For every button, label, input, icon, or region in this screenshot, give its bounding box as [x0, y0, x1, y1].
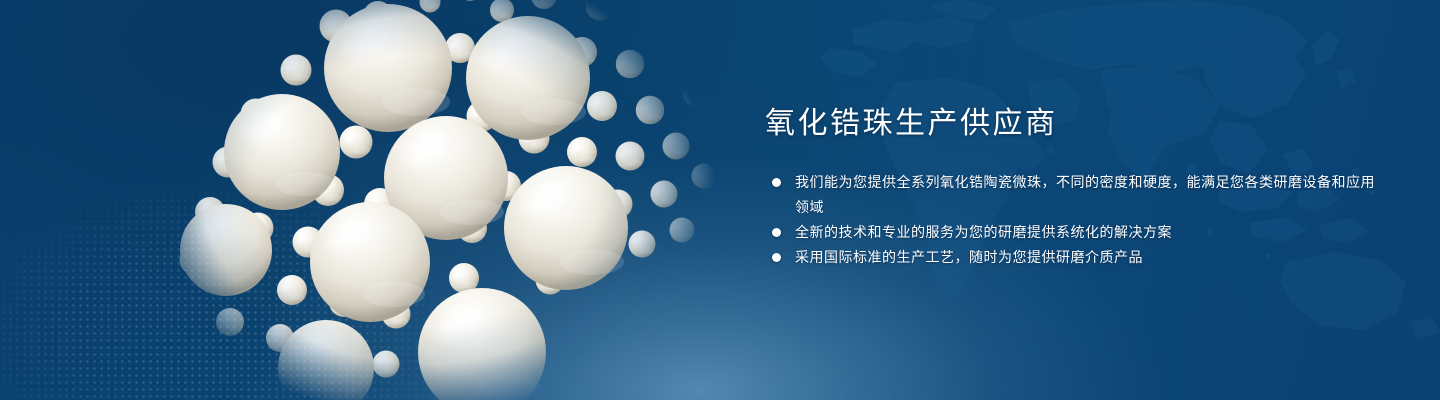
zirconia-beads-image	[130, 0, 750, 400]
list-item-text: 我们能为您提供全系列氧化锆陶瓷微珠，不同的密度和硬度，能满足您各类研磨设备和应用…	[795, 174, 1375, 215]
list-item-text: 采用国际标准的生产工艺，随时为您提供研磨介质产品	[795, 249, 1143, 265]
hero-banner: 氧化锆珠生产供应商 我们能为您提供全系列氧化锆陶瓷微珠，不同的密度和硬度，能满足…	[0, 0, 1440, 400]
bullet-dot-icon	[772, 178, 781, 187]
banner-copy: 氧化锆珠生产供应商 我们能为您提供全系列氧化锆陶瓷微珠，不同的密度和硬度，能满足…	[765, 104, 1385, 270]
list-item: 全新的技术和专业的服务为您的研磨提供系统化的解决方案	[765, 220, 1385, 245]
bullet-dot-icon	[772, 228, 781, 237]
list-item-text: 全新的技术和专业的服务为您的研磨提供系统化的解决方案	[795, 224, 1172, 240]
list-item: 我们能为您提供全系列氧化锆陶瓷微珠，不同的密度和硬度，能满足您各类研磨设备和应用…	[765, 170, 1385, 220]
bullet-dot-icon	[772, 253, 781, 262]
page-title: 氧化锆珠生产供应商	[765, 104, 1385, 144]
feature-list: 我们能为您提供全系列氧化锆陶瓷微珠，不同的密度和硬度，能满足您各类研磨设备和应用…	[765, 170, 1385, 270]
list-item: 采用国际标准的生产工艺，随时为您提供研磨介质产品	[765, 245, 1385, 270]
